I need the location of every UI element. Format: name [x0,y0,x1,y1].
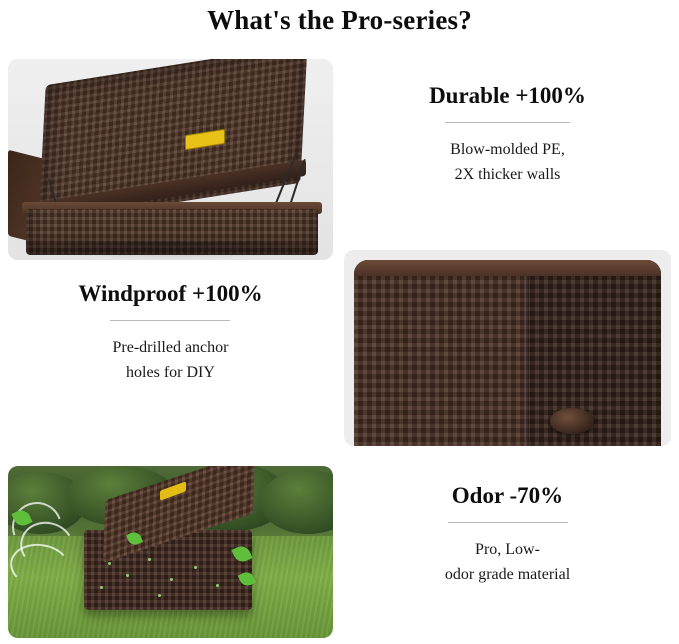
feature-desc-windproof-line2: holes for DIY [78,360,262,385]
anchor-hole-foot [550,408,594,434]
feature-title-durable: Durable +100% [429,82,586,110]
image-corner-closeup [344,250,671,446]
feature-desc-durable-line2: 2X thicker walls [429,162,586,187]
divider-rule [445,122,570,123]
product-feature-infographic: What's the Pro-series? Durable +100% Blo… [0,0,679,644]
divider-rule [448,522,568,523]
feature-block-windproof: Windproof +100% Pre-drilled anchor holes… [8,280,333,385]
feature-title-windproof: Windproof +100% [78,280,262,308]
odor-particle [148,558,151,561]
photo-shadow [16,242,326,260]
feature-desc-odor-line2: odor grade material [445,562,570,587]
odor-particle [216,584,219,587]
odor-particle [170,578,173,581]
page-title: What's the Pro-series? [0,0,679,40]
feature-desc-odor-line1: Pro, Low- [445,537,570,562]
box-top-rim [354,260,661,276]
feature-block-odor: Odor -70% Pro, Low- odor grade material [344,482,671,587]
box-face-left [354,260,526,446]
feature-desc-durable-line1: Blow-molded PE, [429,137,586,162]
odor-particle [194,566,197,569]
image-open-deck-box [8,59,333,260]
box-corner [354,260,661,446]
odor-particle [126,574,129,577]
odor-particle [158,594,161,597]
feature-title-odor: Odor -70% [445,482,570,510]
odor-particle [100,586,103,589]
divider-rule [110,320,230,321]
feature-block-durable: Durable +100% Blow-molded PE, 2X thicker… [344,82,671,187]
image-lawn-deck-box [8,466,333,638]
odor-particle [108,562,111,565]
box-corner-seam [524,260,529,446]
feature-desc-windproof-line1: Pre-drilled anchor [78,335,262,360]
